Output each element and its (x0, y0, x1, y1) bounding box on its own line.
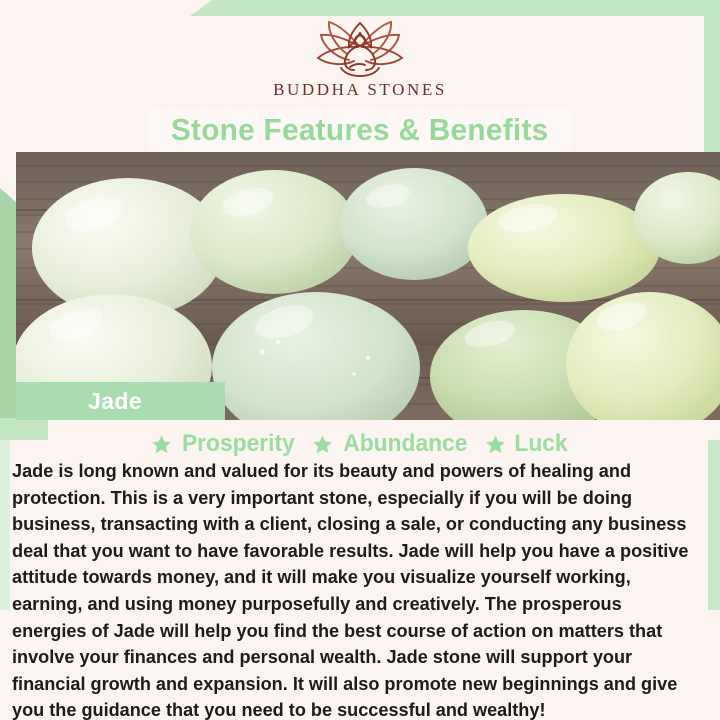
lotus-meditation-icon (301, 16, 419, 78)
decorative-left-body-strip (0, 440, 10, 610)
benefit-item: Prosperity (151, 430, 298, 458)
benefits-row: Prosperity Abundance Luck (0, 430, 720, 458)
benefit-item: Abundance (312, 430, 471, 458)
decorative-top-band (190, 0, 720, 16)
page-title: Stone Features & Benefits (171, 112, 549, 148)
stone-name-label: Jade (88, 388, 142, 415)
brand-name: BUDDHA STONES (273, 80, 447, 100)
decorative-left-band (0, 188, 16, 434)
star-icon (312, 434, 333, 455)
stone-description: Jade is long known and valued for its be… (12, 458, 700, 720)
brand-logo-block: BUDDHA STONES (0, 16, 720, 108)
benefit-item: Luck (485, 430, 569, 458)
decorative-right-body-strip (708, 440, 720, 610)
stone-photo (16, 152, 720, 420)
stone-name-bar: Jade (16, 382, 225, 420)
star-icon (485, 434, 506, 455)
benefit-label: Prosperity (182, 430, 295, 458)
benefit-label: Luck (514, 430, 567, 458)
star-icon (151, 434, 172, 455)
title-banner: Stone Features & Benefits (148, 108, 572, 152)
stone-info-card: BUDDHA STONES Stone Features & Benefits (0, 0, 720, 720)
benefit-label: Abundance (343, 430, 467, 458)
